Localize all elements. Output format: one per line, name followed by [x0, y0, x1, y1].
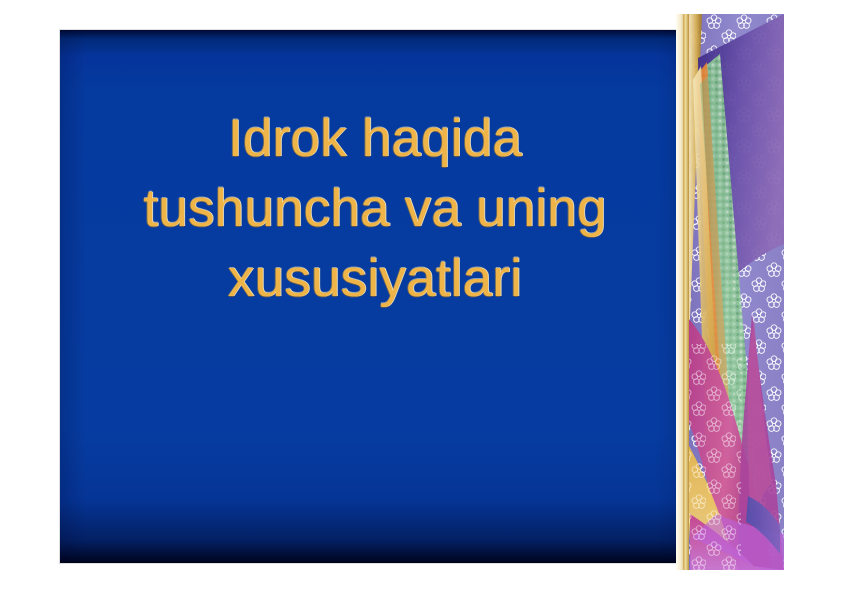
slide-title: Idrok haqida tushuncha va uning xususiya…	[60, 104, 690, 314]
title-line-3: xususiyatlari	[60, 244, 690, 314]
decoration-artwork	[676, 14, 784, 570]
title-line-1: Idrok haqida	[60, 104, 690, 174]
title-line-2: tushuncha va uning	[60, 174, 690, 244]
floral-ribbon-border-decoration	[676, 14, 784, 570]
slide-root: Idrok haqida tushuncha va uning xususiya…	[0, 0, 842, 596]
